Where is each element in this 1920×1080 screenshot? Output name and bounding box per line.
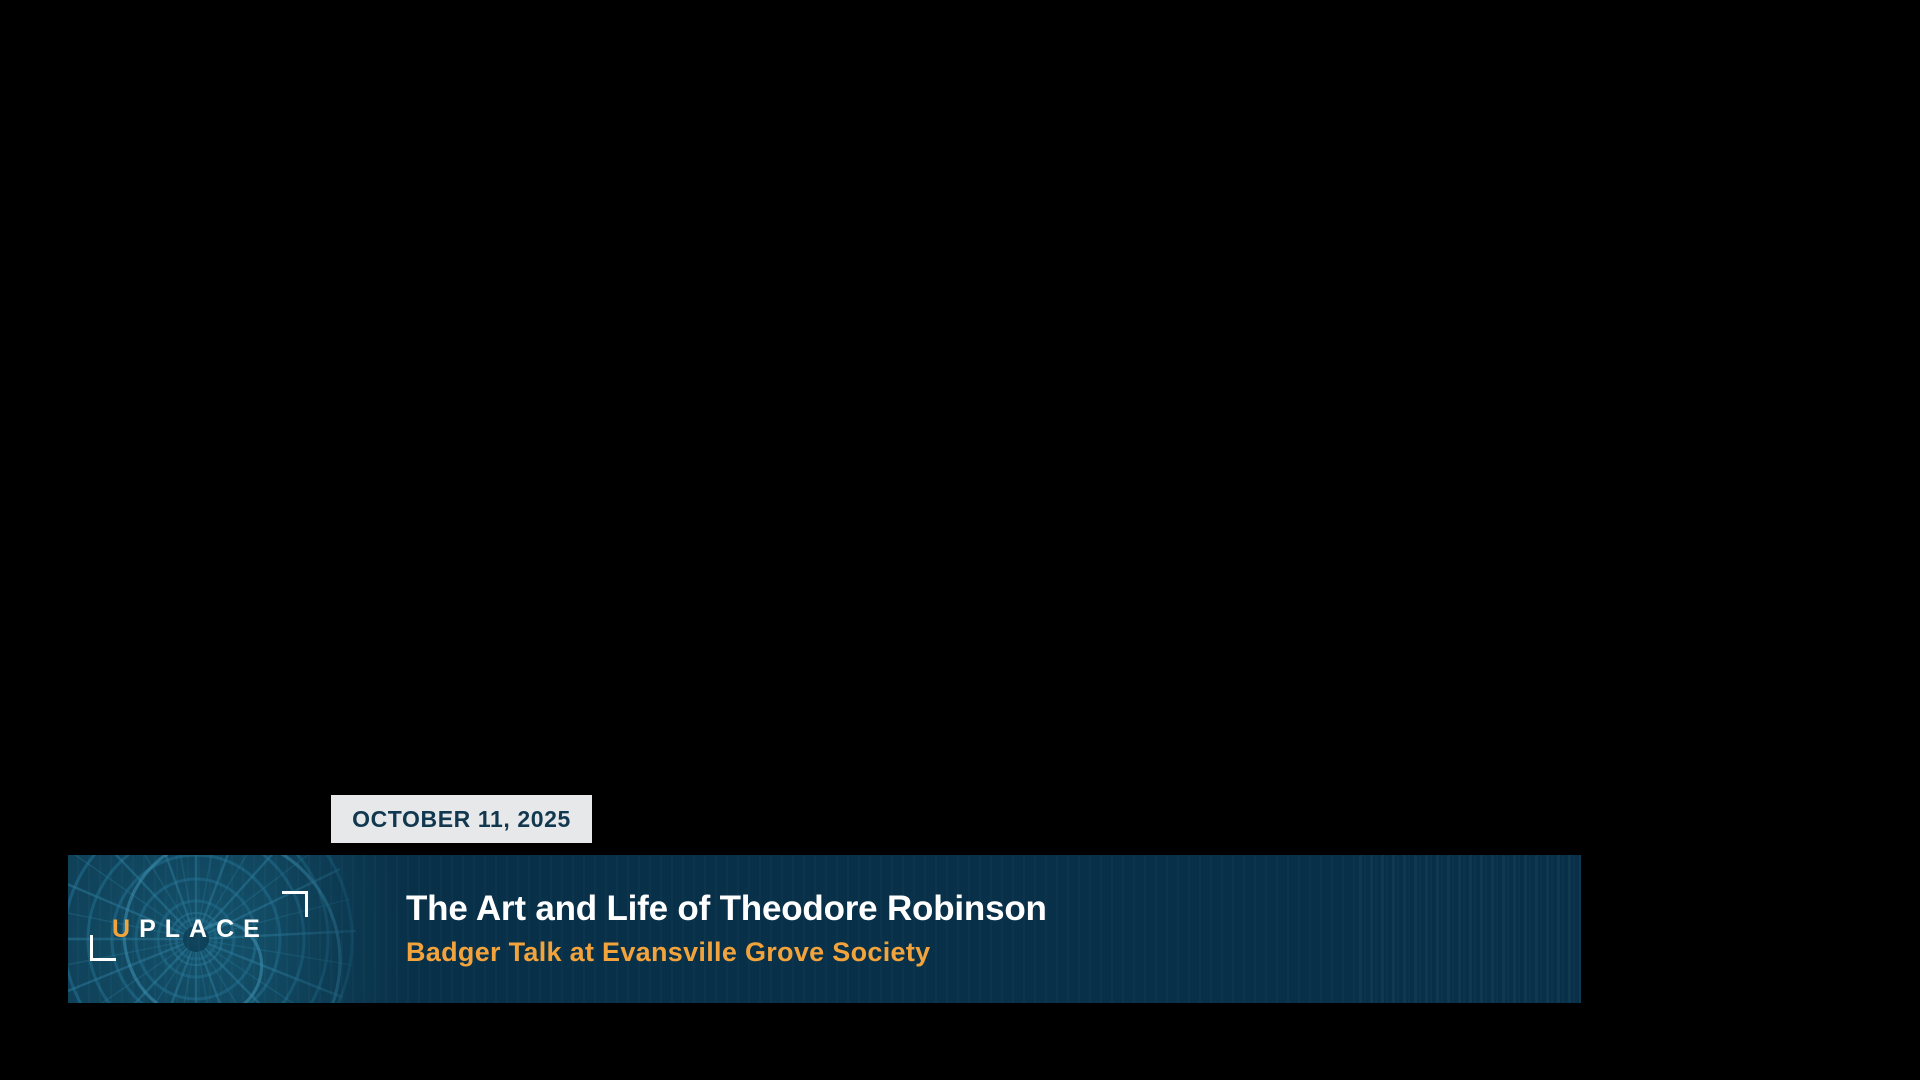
- event-subtitle: Badger Talk at Evansville Grove Society: [406, 938, 1047, 966]
- event-banner-card[interactable]: UPLACE The Art and Life of Theodore Robi…: [68, 855, 1581, 1003]
- banner-text-block: The Art and Life of Theodore Robinson Ba…: [406, 855, 1047, 1003]
- logo-rest-letters: PLACE: [139, 915, 269, 943]
- uplace-logo[interactable]: UPLACE: [90, 891, 320, 967]
- event-date-badge: OCTOBER 11, 2025: [331, 795, 592, 843]
- page-root: OCTOBER 11, 2025: [0, 0, 1920, 1080]
- event-date-label: OCTOBER 11, 2025: [352, 808, 571, 831]
- logo-wordmark: UPLACE: [112, 917, 269, 942]
- event-title: The Art and Life of Theodore Robinson: [406, 891, 1047, 928]
- banner-stripe-texture-right: [1351, 855, 1581, 1003]
- logo-bracket-top-right-icon: [282, 891, 308, 917]
- logo-accent-letter: U: [112, 915, 139, 943]
